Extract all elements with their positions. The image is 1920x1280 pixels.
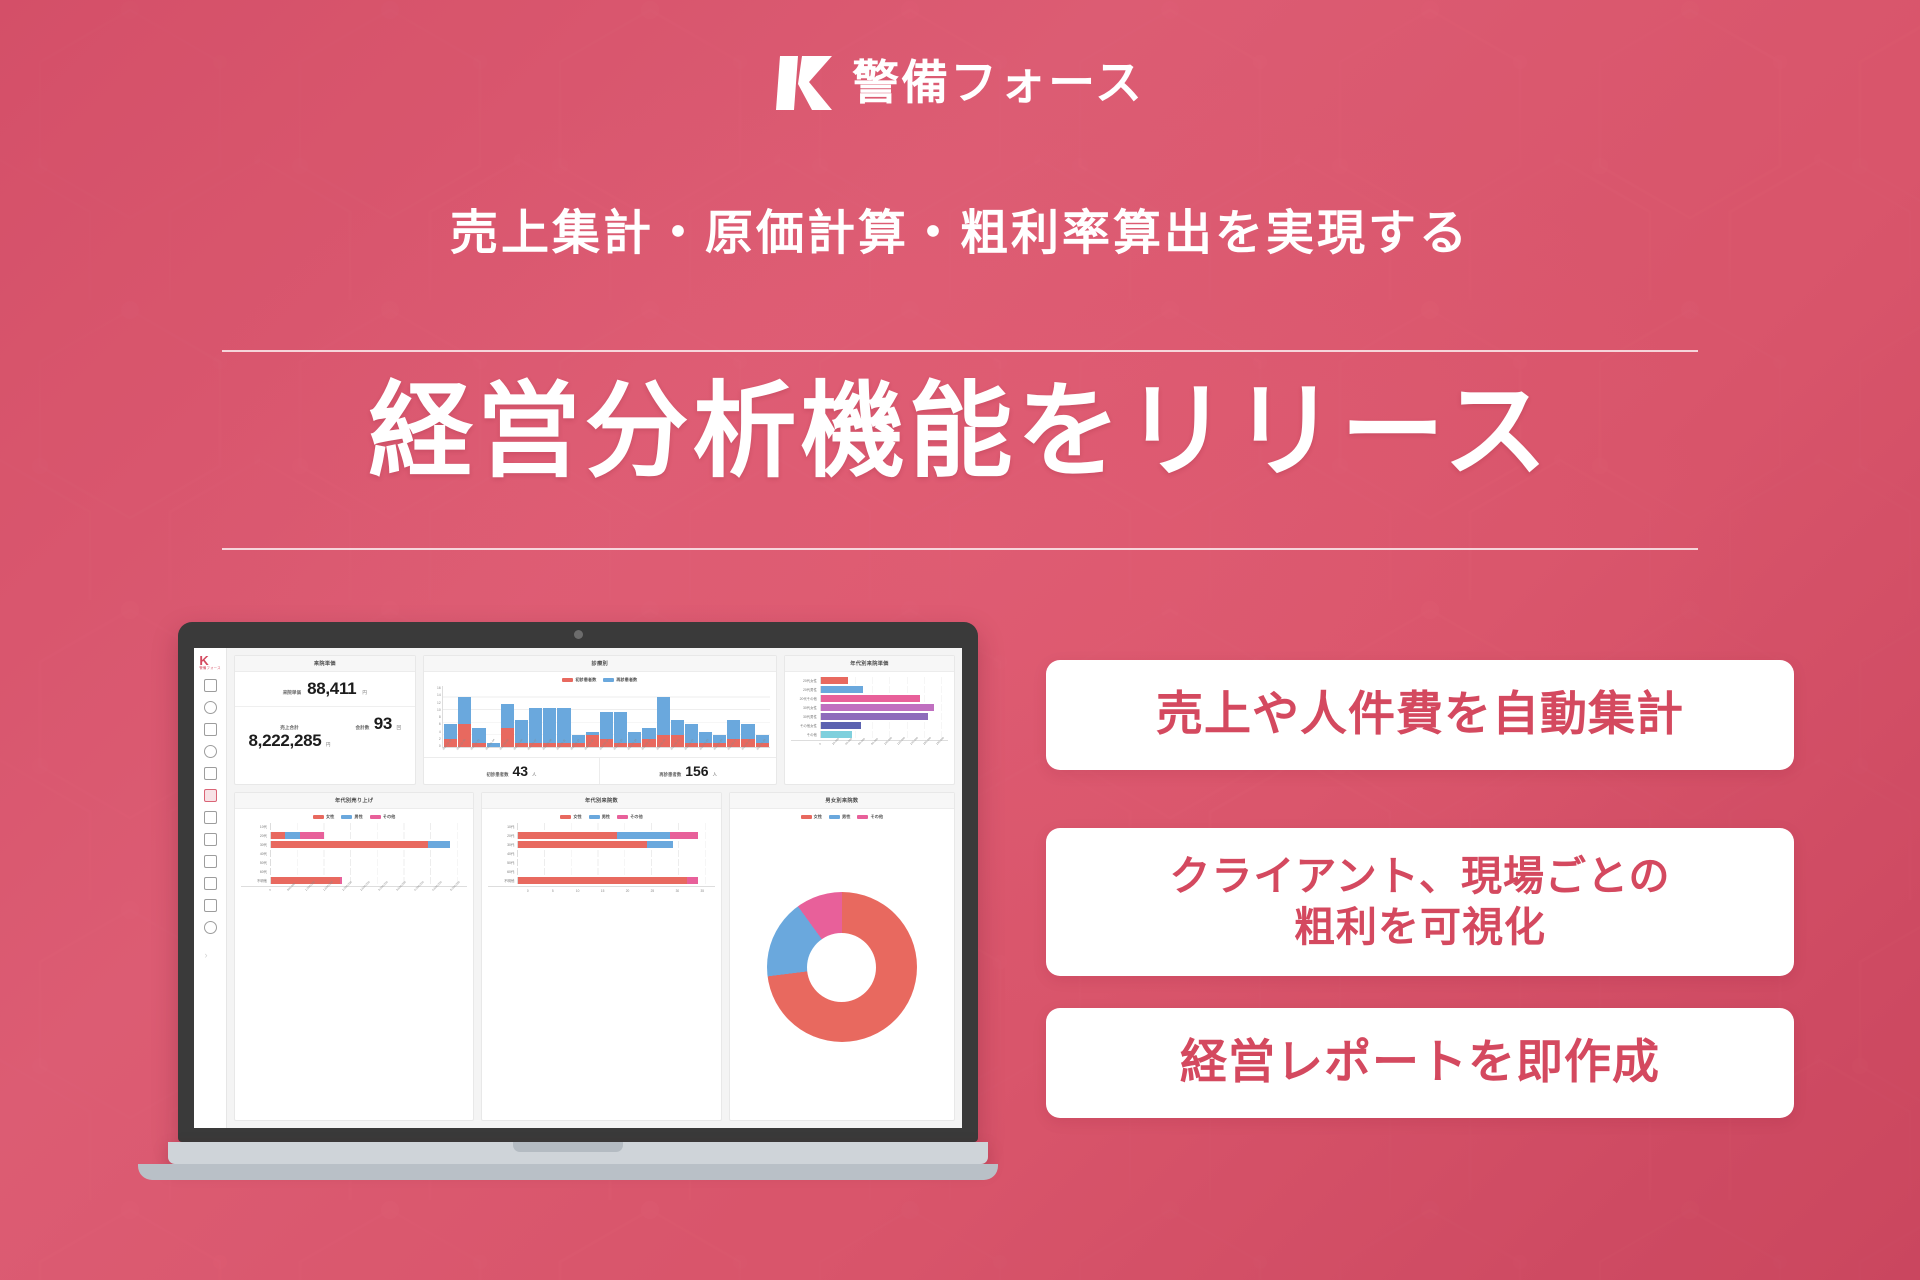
k-logo-icon — [776, 52, 836, 114]
age-sales-bar-row: 50代 — [241, 859, 467, 866]
visits-legend: 初診患者数 再診患者数 — [430, 677, 770, 683]
age-visits-bar-row: 不明他 — [488, 877, 714, 884]
age-unit-bar-row: その他 — [791, 731, 948, 738]
laptop-mockup: K 警備フォース › — [178, 622, 978, 1180]
visits-bar-chart: 16141210 86420 — [430, 686, 770, 748]
divider-top — [222, 350, 1698, 352]
age-unit-x-axis: 020,00040,00060,00080,000100,000120,0001… — [791, 740, 948, 747]
sidebar-logo-sub: 警備フォース — [199, 667, 220, 670]
sidebar-item-people-icon[interactable] — [204, 811, 217, 824]
page-title: 経営分析機能をリリース — [0, 372, 1920, 492]
age-unit-bar-row: 20代女性 — [791, 677, 948, 684]
visits-y-axis: 16141210 86420 — [430, 686, 443, 748]
age-unit-label: 30代男性 — [791, 714, 820, 719]
age-sales-chart: 10代20代30代40代50代60代不明他 — [241, 823, 467, 884]
age-visits-card: 年代別来院数 女性 男性 その他 10代20代30代40代50代60代不明他 0… — [481, 792, 721, 1121]
age-sales-card-title: 年代別売り上げ — [235, 793, 473, 809]
sidebar-collapse-icon[interactable]: › — [205, 950, 216, 961]
feature-card-1: 売上や人件費を自動集計 — [1046, 660, 1794, 770]
age-sales-legend: 女性 男性 その他 — [241, 814, 467, 820]
kpi-primary-label: 来院単価 — [283, 690, 301, 696]
visits-stats: 初診患者数 43 人 再診患者数 156 人 — [424, 757, 776, 784]
dashboard-row-top: 来院単価 来院単価 88,411 円 売上合計 — [234, 655, 955, 785]
age-sales-x-axis: 0500,0001,000,0001,500,0002,000,0002,500… — [241, 886, 467, 893]
sidebar-item-printer-icon[interactable] — [204, 899, 217, 912]
kpi-sales-value: 8,222,285 — [249, 731, 322, 750]
age-unit-card: 年代別来院単価 20代女性20代男性20代その他30代女性30代男性その他女性そ… — [784, 655, 955, 785]
visits-legend-1: 再診患者数 — [616, 677, 637, 683]
sidebar-logo: K 警備フォース — [199, 654, 220, 670]
age-sales-bar-row: 40代 — [241, 850, 467, 857]
age-unit-label: 20代女性 — [791, 678, 820, 683]
sidebar-item-timer-icon[interactable] — [204, 745, 217, 758]
gender-card-title: 男女別来院数 — [730, 793, 954, 809]
age-visits-legend: 女性 男性 その他 — [488, 814, 714, 820]
age-unit-label: その他 — [791, 732, 820, 737]
age-visits-bar-row: 50代 — [488, 859, 714, 866]
sidebar-item-list-icon[interactable] — [204, 855, 217, 868]
laptop-stand — [138, 1164, 998, 1180]
sidebar-item-calendar-icon[interactable] — [204, 679, 217, 692]
kpi-secondary: 売上合計 8,222,285 円 会計数 93 回 — [235, 706, 415, 758]
sidebar-item-clock-icon[interactable] — [204, 701, 217, 714]
sidebar-item-monitor-icon[interactable] — [204, 767, 217, 780]
visits-x-axis: 2021-12-292021-12-302021-12-312022-01-04… — [430, 748, 770, 752]
gender-donut-chart — [767, 892, 917, 1042]
age-visits-bar-row: 20代 — [488, 832, 714, 839]
age-unit-bar-row: 30代女性 — [791, 704, 948, 711]
age-unit-bar-row: その他女性 — [791, 722, 948, 729]
laptop-notch — [513, 1142, 623, 1152]
kpi-card: 来院単価 来院単価 88,411 円 売上合計 — [234, 655, 416, 785]
age-unit-bar-row: 20代男性 — [791, 686, 948, 693]
kpi-sales-unit: 円 — [326, 742, 331, 747]
feature-card-2: クライアント、現場ごとの粗利を可視化 — [1046, 828, 1794, 976]
age-unit-chart: 20代女性20代男性20代その他30代女性30代男性その他女性その他 — [791, 677, 948, 738]
kpi-card-title: 来院単価 — [235, 656, 415, 672]
dashboard-sidebar: K 警備フォース › — [194, 648, 227, 1128]
stat-repeat-visit: 再診患者数 156 人 — [599, 758, 776, 784]
age-unit-label: 20代その他 — [791, 696, 820, 701]
visits-card-title: 診療別 — [424, 656, 776, 672]
feature-card-2-line: クライアント、現場ごとの — [1169, 852, 1670, 900]
gender-card: 男女別来院数 女性 男性 その他 — [729, 792, 955, 1121]
feature-card-2-line: 粗利を可視化 — [1294, 903, 1546, 951]
brand-logo: 警備フォース — [0, 52, 1920, 114]
age-sales-bar-row: 20代 — [241, 832, 467, 839]
sidebar-item-document-icon[interactable] — [204, 723, 217, 736]
age-visits-bar-row: 60代 — [488, 868, 714, 875]
age-sales-bar-row: 10代 — [241, 823, 467, 830]
divider-bottom — [222, 548, 1698, 550]
feature-card-3: 経営レポートを即作成 — [1046, 1008, 1794, 1118]
age-sales-bar-row: 60代 — [241, 868, 467, 875]
age-unit-card-title: 年代別来院単価 — [785, 656, 954, 672]
kpi-count-unit: 回 — [397, 725, 402, 730]
age-unit-bar-row: 20代その他 — [791, 695, 948, 702]
age-visits-x-axis: 05101520253035 — [488, 886, 714, 893]
age-sales-bar-row: 30代 — [241, 841, 467, 848]
kpi-primary: 来院単価 88,411 円 — [235, 672, 415, 706]
age-unit-label: その他女性 — [791, 723, 820, 728]
age-unit-bar-row: 30代男性 — [791, 713, 948, 720]
age-unit-label: 30代女性 — [791, 705, 820, 710]
sidebar-item-chart-icon[interactable] — [204, 789, 217, 802]
kpi-count-value: 93 — [374, 714, 392, 733]
kpi-primary-unit: 円 — [362, 690, 367, 696]
visits-legend-0: 初診患者数 — [575, 677, 596, 683]
visits-card: 診療別 初診患者数 再診患者数 16141210 86420 — [423, 655, 777, 785]
dashboard-content: 来院単価 来院単価 88,411 円 売上合計 — [227, 648, 962, 1128]
kpi-count-label: 会計数 — [356, 725, 370, 730]
stat-first-visit: 初診患者数 43 人 — [424, 758, 600, 784]
age-visits-bar-row: 30代 — [488, 841, 714, 848]
sidebar-item-book-icon[interactable] — [204, 833, 217, 846]
age-visits-card-title: 年代別来院数 — [482, 793, 720, 809]
sidebar-item-copy-icon[interactable] — [204, 877, 217, 890]
brand-logo-text: 警備フォース — [852, 60, 1144, 107]
age-visits-chart: 10代20代30代40代50代60代不明他 — [488, 823, 714, 884]
dashboard-row-bottom: 年代別売り上げ 女性 男性 その他 10代20代30代40代50代60代不明他 … — [234, 792, 955, 1121]
laptop-camera-icon — [574, 630, 583, 639]
subtitle: 売上集計・原価計算・粗利率算出を実現する — [0, 193, 1920, 263]
laptop-lid: K 警備フォース › — [178, 622, 978, 1142]
age-visits-bar-row: 10代 — [488, 823, 714, 830]
age-visits-bar-row: 40代 — [488, 850, 714, 857]
gender-donut-wrap — [736, 823, 948, 1115]
dashboard-screen: K 警備フォース › — [194, 648, 962, 1128]
sidebar-item-gear-icon[interactable] — [204, 921, 217, 934]
age-unit-label: 20代男性 — [791, 687, 820, 692]
age-sales-card: 年代別売り上げ 女性 男性 その他 10代20代30代40代50代60代不明他 … — [234, 792, 474, 1121]
kpi-primary-value: 88,411 — [307, 679, 356, 699]
gender-legend: 女性 男性 その他 — [736, 814, 948, 820]
